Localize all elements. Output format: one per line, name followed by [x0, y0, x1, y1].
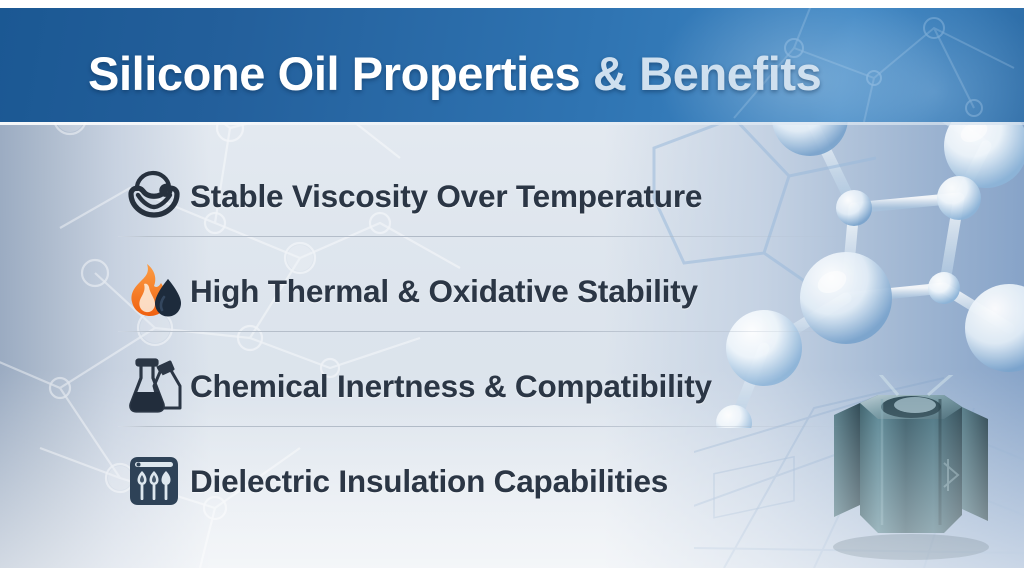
feature-label: Stable Viscosity Over Temperature [190, 178, 702, 215]
feature-list: Stable Viscosity Over Temperature [0, 122, 1024, 568]
feature-row-chemical[interactable]: Chemical Inertness & Compatibility [118, 349, 858, 423]
dielectric-insulator-icon [118, 449, 190, 513]
feature-label: High Thermal & Oxidative Stability [190, 273, 698, 310]
page-title: Silicone Oil Properties & Benefits [88, 50, 821, 97]
title-main-text: Silicone Oil Properties [88, 47, 580, 100]
feature-divider-1 [118, 236, 845, 237]
feature-divider-2 [118, 331, 845, 332]
top-white-strip [0, 0, 1024, 8]
feature-row-dielectric[interactable]: Dielectric Insulation Capabilities [118, 444, 858, 518]
banner-underline [0, 122, 1024, 125]
slide-root: Silicone Oil Properties & Benefits Stabl… [0, 0, 1024, 576]
title-accent-text: & Benefits [593, 47, 821, 100]
flame-droplet-icon [118, 259, 190, 323]
feature-row-viscosity[interactable]: Stable Viscosity Over Temperature [118, 159, 858, 233]
feature-label: Dielectric Insulation Capabilities [190, 463, 668, 500]
feature-row-thermal[interactable]: High Thermal & Oxidative Stability [118, 254, 858, 328]
flask-beaker-icon [118, 354, 190, 418]
title-banner: Silicone Oil Properties & Benefits [0, 8, 1024, 122]
bottom-white-strip [0, 568, 1024, 576]
feature-divider-3 [118, 426, 845, 427]
feature-label: Chemical Inertness & Compatibility [190, 368, 712, 405]
viscosity-oil-icon [118, 164, 190, 228]
